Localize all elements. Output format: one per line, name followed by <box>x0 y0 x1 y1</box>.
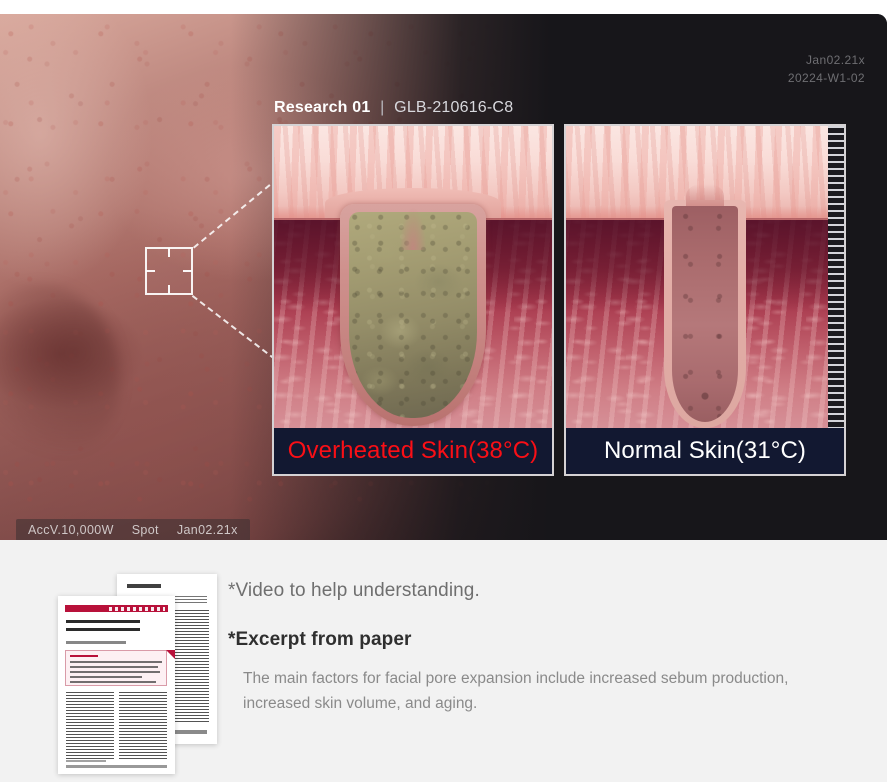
selection-tick-top-icon <box>168 248 170 257</box>
abstract-line <box>70 661 162 663</box>
research-title-separator: | <box>380 99 384 116</box>
paper-back-header <box>127 584 161 588</box>
paper-abstract-box <box>65 650 167 686</box>
selection-tick-bottom-icon <box>168 285 170 294</box>
abstract-line <box>70 655 98 657</box>
paper-corner-fold-icon <box>166 650 175 659</box>
panel-normal-skin[interactable]: Normal Skin(31°C) <box>564 124 846 476</box>
screenshot-root: Jan02.21x 20224-W1-02 Research 01 | GLB-… <box>0 0 887 782</box>
notes-text-block: *Video to help understanding. *Excerpt f… <box>228 580 868 716</box>
research-sample-code: GLB-210616-C8 <box>394 99 513 116</box>
excerpt-heading: *Excerpt from paper <box>228 629 868 651</box>
selection-tick-left-icon <box>146 270 155 272</box>
readout-voltage: AccV.10,000W <box>28 523 114 537</box>
meta-stamp-date: Jan02.21x <box>806 52 865 69</box>
research-title-main: Research 01 <box>274 99 371 116</box>
paper-thumbnail-stack[interactable] <box>55 574 220 774</box>
magnification-selection-box[interactable] <box>145 247 193 295</box>
normal-skin-illustration <box>566 126 844 432</box>
pore-shaft <box>672 206 738 422</box>
panel-caption-overheated: Overheated Skin(38°C) <box>274 428 552 474</box>
abstract-line <box>70 666 158 668</box>
normal-pore <box>664 200 746 428</box>
abstract-line <box>70 671 160 673</box>
paper-thumbnail-front <box>58 596 175 774</box>
abstract-line <box>70 676 142 678</box>
overheated-skin-illustration <box>274 126 552 432</box>
notes-section: *Video to help understanding. *Excerpt f… <box>0 540 887 782</box>
paper-back-footer <box>171 730 207 734</box>
paper-journal-banner <box>65 605 168 612</box>
paper-front-footer <box>66 765 167 768</box>
readout-timestamp: Jan02.21x <box>177 523 238 537</box>
cross-section-panel-group: Overheated Skin(38°C) Normal Skin(31°C) <box>272 124 847 476</box>
measurement-ruler <box>828 126 844 476</box>
panel-overheated-skin[interactable]: Overheated Skin(38°C) <box>272 124 554 476</box>
paper-front-column-2 <box>119 692 167 760</box>
paper-title-block <box>66 620 140 635</box>
excerpt-body: The main factors for facial pore expansi… <box>243 666 858 716</box>
acquisition-readout: AccV.10,000W Spot Jan02.21x <box>16 519 250 540</box>
video-note: *Video to help understanding. <box>228 580 868 602</box>
panel-caption-normal: Normal Skin(31°C) <box>566 428 844 474</box>
paper-authors-line <box>66 641 126 644</box>
research-title: Research 01 | GLB-210616-C8 <box>274 99 513 117</box>
enlarged-pore <box>340 204 486 426</box>
selection-tick-right-icon <box>183 270 192 272</box>
meta-stamp-id: 20224-W1-02 <box>788 70 865 87</box>
sebum-plug-notch <box>400 208 426 250</box>
paper-back-column-2 <box>171 610 209 722</box>
paper-front-footer-small <box>66 760 106 762</box>
abstract-line <box>70 681 156 683</box>
readout-mode: Spot <box>132 523 159 537</box>
nose-shadow <box>0 284 120 454</box>
microscope-viewer-panel: Jan02.21x 20224-W1-02 Research 01 | GLB-… <box>0 14 887 540</box>
paper-front-column-1 <box>66 692 114 760</box>
